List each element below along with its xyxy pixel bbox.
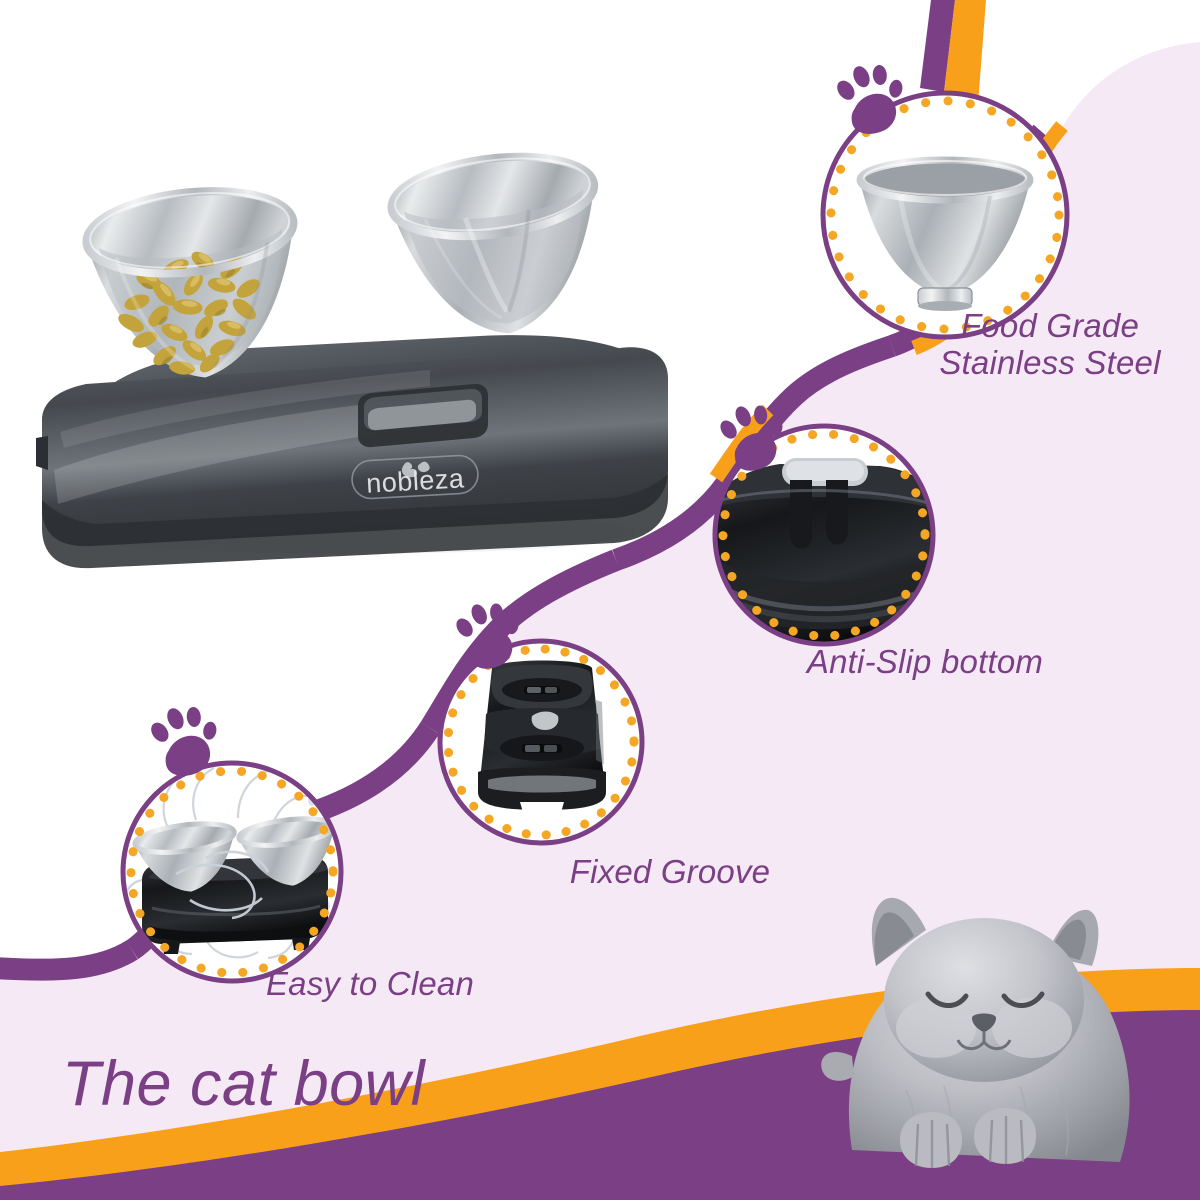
infographic-canvas: nobleza (0, 0, 1200, 1200)
cat-photo (0, 0, 1200, 1200)
british-shorthair-cat (821, 898, 1129, 1168)
page-title: The cat bowl (62, 1048, 425, 1120)
